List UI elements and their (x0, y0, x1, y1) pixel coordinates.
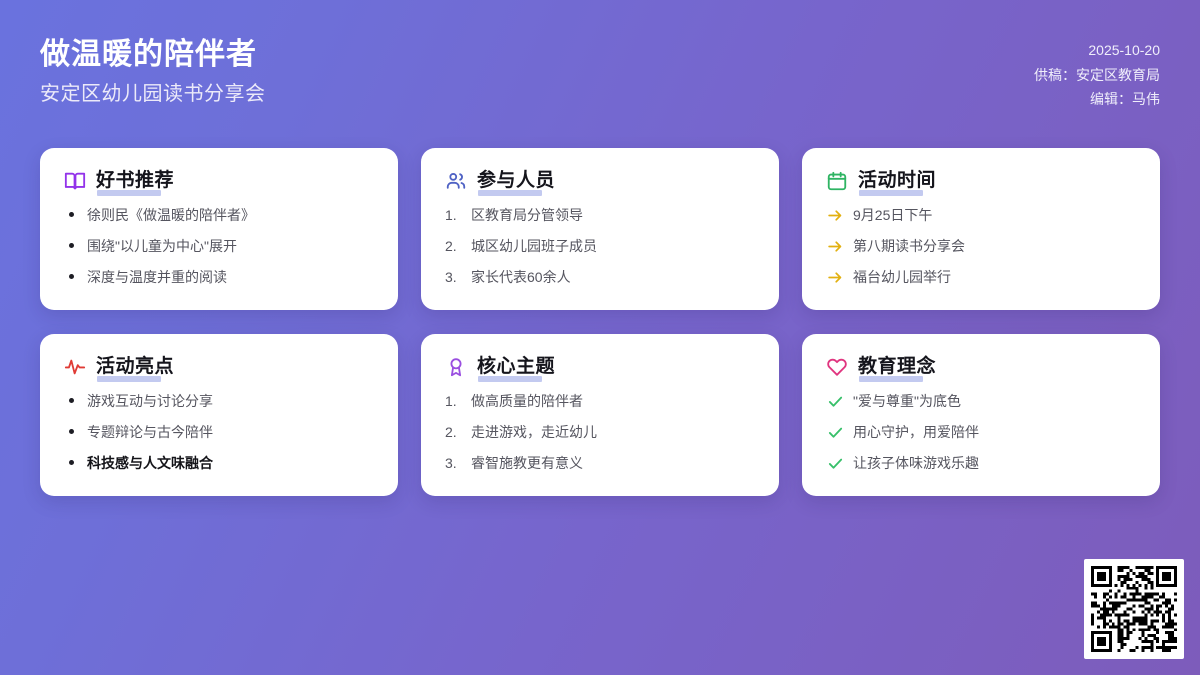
bullet-dot (64, 206, 78, 217)
list-number: 1. (445, 206, 462, 225)
list-item-text: 围绕"以儿童为中心"展开 (87, 237, 374, 256)
card-core-theme: 核心主题1.做高质量的陪伴者2.走进游戏，走近幼儿3.睿智施教更有意义 (421, 334, 779, 496)
check-icon (827, 393, 844, 410)
card-event-highlights: 活动亮点游戏互动与讨论分享专题辩论与古今陪伴科技感与人文味融合 (40, 334, 398, 496)
bullet-dot (64, 237, 78, 248)
arrow-marker (826, 206, 844, 224)
check-marker (826, 423, 844, 441)
card-title: 活动时间 (858, 171, 936, 192)
award-icon (445, 356, 467, 378)
list-item-text: 做高质量的陪伴者 (471, 392, 755, 411)
list-item-text: 睿智施教更有意义 (471, 454, 755, 473)
card-list: 1.区教育局分管领导2.城区幼儿园班子成员3.家长代表60余人 (445, 206, 755, 287)
card-header: 活动时间 (826, 170, 1136, 192)
list-number: 3. (445, 454, 462, 473)
header-meta: 2025-10-20 供稿：安定区教育局 编辑：马伟 (1034, 38, 1160, 109)
card-event-time: 活动时间9月25日下午第八期读书分享会福台幼儿园举行 (802, 148, 1160, 310)
card-title: 教育理念 (858, 357, 936, 378)
card-title: 活动亮点 (96, 357, 174, 378)
card-list: 9月25日下午第八期读书分享会福台幼儿园举行 (826, 206, 1136, 287)
list-item: 1.区教育局分管领导 (445, 206, 755, 225)
check-icon (827, 455, 844, 472)
card-list: "爱与尊重"为底色用心守护，用爱陪伴让孩子体味游戏乐趣 (826, 392, 1136, 473)
list-number: 2. (445, 237, 462, 256)
list-item: 让孩子体味游戏乐趣 (826, 454, 1136, 473)
card-title-wrap: 教育理念 (858, 357, 936, 378)
list-item-text: 科技感与人文味融合 (87, 454, 374, 473)
card-book-recommendation: 好书推荐徐则民《做温暖的陪伴者》围绕"以儿童为中心"展开深度与温度并重的阅读 (40, 148, 398, 310)
arrow-marker (826, 237, 844, 255)
card-title: 参与人员 (477, 171, 555, 192)
bullet-dot (64, 268, 78, 279)
calendar-icon (826, 170, 848, 192)
list-item: 2.城区幼儿园班子成员 (445, 237, 755, 256)
list-item-text: 走进游戏，走近幼儿 (471, 423, 755, 442)
page-header: 做温暖的陪伴者 安定区幼儿园读书分享会 2025-10-20 供稿：安定区教育局… (0, 0, 1200, 138)
list-item-text: 深度与温度并重的阅读 (87, 268, 374, 287)
heart-icon (826, 356, 848, 378)
book-icon (64, 170, 86, 192)
list-number: 2. (445, 423, 462, 442)
list-item-text: 区教育局分管领导 (471, 206, 755, 225)
arrow-right-icon (827, 238, 844, 255)
card-title-wrap: 活动时间 (858, 171, 936, 192)
publish-date: 2025-10-20 (1088, 42, 1160, 60)
list-item: 第八期读书分享会 (826, 237, 1136, 256)
list-item-text: "爱与尊重"为底色 (853, 392, 1136, 411)
card-list: 徐则民《做温暖的陪伴者》围绕"以儿童为中心"展开深度与温度并重的阅读 (64, 206, 374, 287)
card-education-philosophy: 教育理念"爱与尊重"为底色用心守护，用爱陪伴让孩子体味游戏乐趣 (802, 334, 1160, 496)
card-header: 好书推荐 (64, 170, 374, 192)
list-item: 3.睿智施教更有意义 (445, 454, 755, 473)
list-item-text: 专题辩论与古今陪伴 (87, 423, 374, 442)
list-item: 用心守护，用爱陪伴 (826, 423, 1136, 442)
editor-label: 编辑：马伟 (1090, 91, 1160, 109)
check-marker (826, 392, 844, 410)
list-item: 2.走进游戏，走近幼儿 (445, 423, 755, 442)
list-item: 3.家长代表60余人 (445, 268, 755, 287)
list-number: 3. (445, 268, 462, 287)
card-header: 参与人员 (445, 170, 755, 192)
card-list: 1.做高质量的陪伴者2.走进游戏，走近幼儿3.睿智施教更有意义 (445, 392, 755, 473)
list-item: "爱与尊重"为底色 (826, 392, 1136, 411)
page-subtitle: 安定区幼儿园读书分享会 (40, 82, 266, 106)
list-item-text: 家长代表60余人 (471, 268, 755, 287)
bullet-dot (64, 392, 78, 403)
card-header: 教育理念 (826, 356, 1136, 378)
list-item: 游戏互动与讨论分享 (64, 392, 374, 411)
check-icon (827, 424, 844, 441)
activity-pulse-icon (64, 356, 86, 378)
card-title-wrap: 核心主题 (477, 357, 555, 378)
card-title-wrap: 参与人员 (477, 171, 555, 192)
list-item-text: 9月25日下午 (853, 206, 1136, 225)
qr-code-image (1091, 566, 1177, 652)
list-item: 9月25日下午 (826, 206, 1136, 225)
list-item: 科技感与人文味融合 (64, 454, 374, 473)
card-header: 活动亮点 (64, 356, 374, 378)
arrow-marker (826, 268, 844, 286)
list-item-text: 用心守护，用爱陪伴 (853, 423, 1136, 442)
list-item: 1.做高质量的陪伴者 (445, 392, 755, 411)
card-title-wrap: 活动亮点 (96, 357, 174, 378)
card-title: 好书推荐 (96, 171, 174, 192)
list-item-text: 徐则民《做温暖的陪伴者》 (87, 206, 374, 225)
arrow-right-icon (827, 207, 844, 224)
card-header: 核心主题 (445, 356, 755, 378)
list-item: 福台幼儿园举行 (826, 268, 1136, 287)
list-item-text: 第八期读书分享会 (853, 237, 1136, 256)
list-item-text: 城区幼儿园班子成员 (471, 237, 755, 256)
card-list: 游戏互动与讨论分享专题辩论与古今陪伴科技感与人文味融合 (64, 392, 374, 473)
list-item-text: 让孩子体味游戏乐趣 (853, 454, 1136, 473)
list-item: 围绕"以儿童为中心"展开 (64, 237, 374, 256)
list-number: 1. (445, 392, 462, 411)
list-item-text: 福台幼儿园举行 (853, 268, 1136, 287)
card-title-wrap: 好书推荐 (96, 171, 174, 192)
qr-code[interactable] (1084, 559, 1184, 659)
source-label: 供稿：安定区教育局 (1034, 67, 1160, 85)
list-item: 深度与温度并重的阅读 (64, 268, 374, 287)
list-item: 专题辩论与古今陪伴 (64, 423, 374, 442)
bullet-dot (64, 454, 78, 465)
list-item: 徐则民《做温暖的陪伴者》 (64, 206, 374, 225)
header-left: 做温暖的陪伴者 安定区幼儿园读书分享会 (40, 38, 266, 106)
card-title: 核心主题 (477, 357, 555, 378)
users-icon (445, 170, 467, 192)
page-title: 做温暖的陪伴者 (40, 38, 266, 73)
card-grid: 好书推荐徐则民《做温暖的陪伴者》围绕"以儿童为中心"展开深度与温度并重的阅读参与… (40, 148, 1160, 496)
check-marker (826, 454, 844, 472)
card-participants: 参与人员1.区教育局分管领导2.城区幼儿园班子成员3.家长代表60余人 (421, 148, 779, 310)
arrow-right-icon (827, 269, 844, 286)
bullet-dot (64, 423, 78, 434)
list-item-text: 游戏互动与讨论分享 (87, 392, 374, 411)
